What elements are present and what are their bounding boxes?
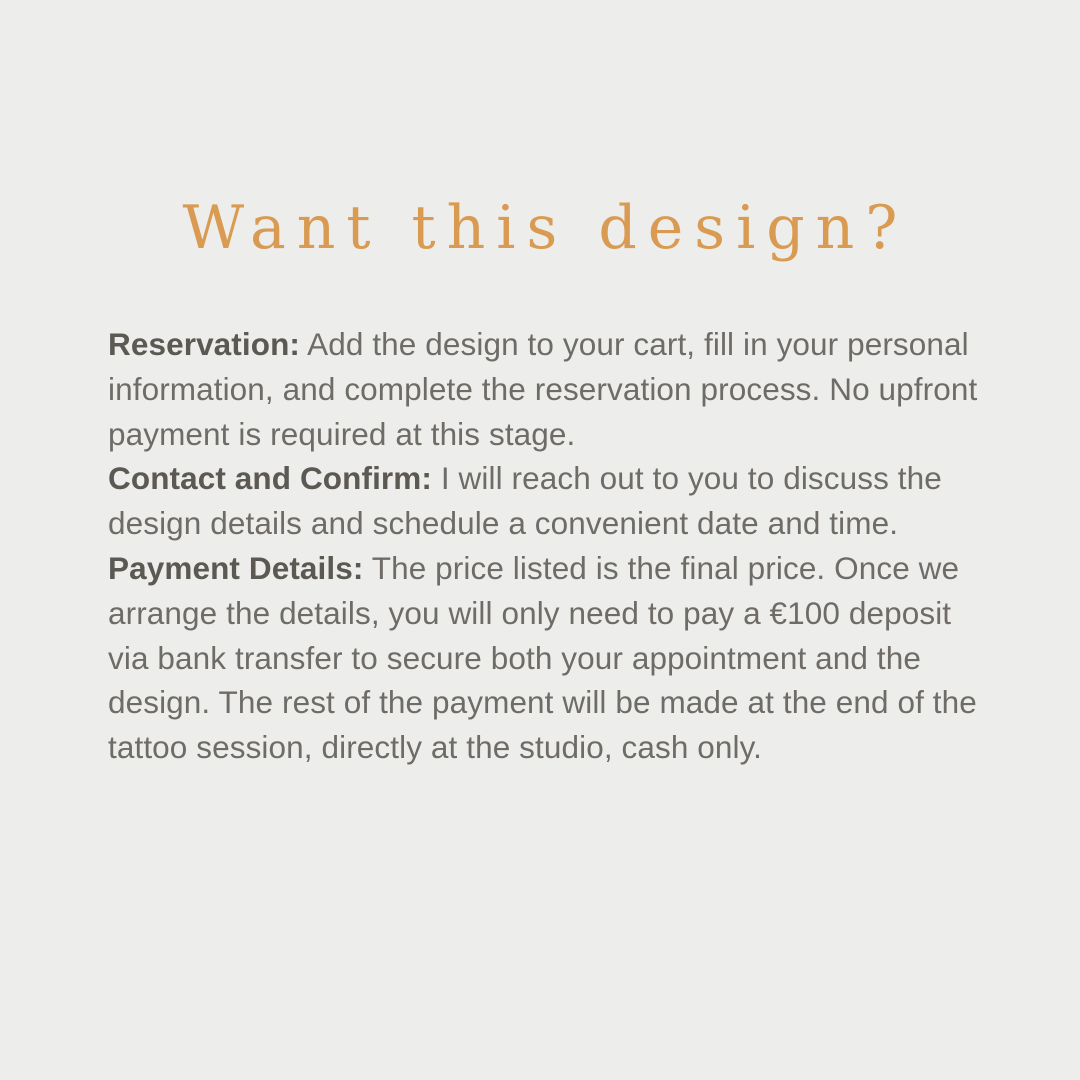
section-contact-and-confirm: Contact and Confirm: I will reach out to… <box>108 456 980 546</box>
section-reservation: Reservation: Add the design to your cart… <box>108 322 980 456</box>
section-payment-details: Payment Details: The price listed is the… <box>108 546 980 770</box>
info-card: Want this design? Reservation: Add the d… <box>0 0 1080 1080</box>
page-title: Want this design? <box>0 196 1080 261</box>
section-label-payment-details: Payment Details: <box>108 550 363 586</box>
instructions-body: Reservation: Add the design to your cart… <box>108 322 980 770</box>
section-label-reservation: Reservation: <box>108 326 300 362</box>
section-label-contact-and-confirm: Contact and Confirm: <box>108 460 432 496</box>
